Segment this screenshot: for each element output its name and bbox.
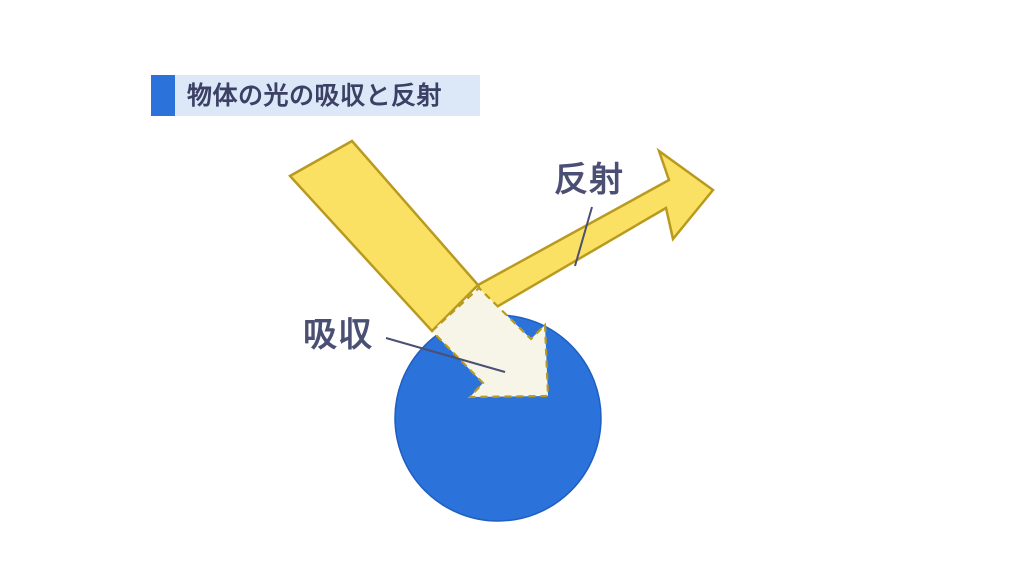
incident-light-beam [290,141,478,331]
page-title: 物体の光の吸収と反射 [187,83,442,108]
title-accent-bar [151,75,175,116]
title-banner: 物体の光の吸収と反射 [151,75,480,116]
reflection-label: 反射 [554,163,624,197]
absorption-label: 吸収 [303,318,373,352]
diagram-canvas: 物体の光の吸収と反射 反射 吸収 [0,0,1024,576]
